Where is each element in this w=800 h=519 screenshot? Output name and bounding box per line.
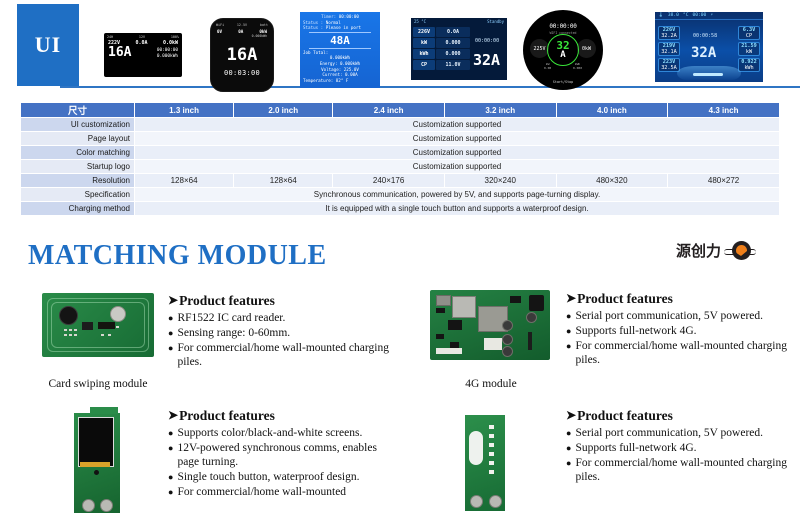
bullet-icon: ● xyxy=(168,311,173,325)
table-header-row: 尺寸 1.3 inch 2.0 inch 2.4 inch 3.2 inch 4… xyxy=(21,103,779,117)
screen13-status-right: 100% xyxy=(171,35,179,39)
row-value: Customization supported xyxy=(135,132,779,145)
row-value: 128×64 xyxy=(135,174,233,187)
feature-bullet: ● Serial port communication, 5V powered. xyxy=(566,309,790,323)
display-module-features: ➤ Product features ● Supports color/blac… xyxy=(168,408,392,500)
table-row: Charging method It is equipped with a si… xyxy=(21,202,779,215)
screen43-chip-bottom: 32.5A xyxy=(659,65,679,71)
led-indicator xyxy=(489,452,494,456)
screen20-subvalue: 0.000kWh xyxy=(211,34,273,38)
screen-preview-4-3-inch: 🌡 38.0 °C 00:00 ⚡ 226V 32.2A 219V 32.1A … xyxy=(655,12,763,82)
table-row: Page layout Customization supported xyxy=(21,132,779,145)
screen32-metric-row: kWh 0.000 xyxy=(413,49,473,59)
screen32-metric-value: 0.000 xyxy=(436,38,470,48)
row-value: 480×272 xyxy=(668,174,779,187)
electrolytic-capacitor xyxy=(502,320,513,331)
screen43-chip-bottom: 32.2A xyxy=(659,33,679,39)
screen43-chip: 21.59 kW xyxy=(738,42,760,56)
screw-hole xyxy=(82,499,95,512)
row-label: Specification xyxy=(21,188,134,201)
screen20-unit-voltage: 0V xyxy=(217,29,222,34)
smd-part xyxy=(450,342,459,348)
electrolytic-capacitor xyxy=(502,346,513,357)
touch-module-features: ➤ Product features ● Serial port communi… xyxy=(566,408,790,485)
feature-bullet: ● 12V-powered synchronous comms, enables… xyxy=(168,441,392,469)
led-indicator xyxy=(489,470,494,474)
led-indicator xyxy=(489,425,494,429)
ui-tab: UI xyxy=(17,4,79,86)
matching-module-title: MATCHING MODULE xyxy=(28,240,327,272)
bullet-icon: ● xyxy=(168,470,173,484)
screen24-state-value: Please in port xyxy=(326,25,361,30)
screen-preview-3-2-inch: 25 °C Standby 226V 0.0A kW 0.000 kWh 0.0… xyxy=(411,18,507,80)
screen40-amp-unit: A xyxy=(560,51,565,60)
screen13-status-mid: 12V xyxy=(139,35,145,39)
plug-icon: ⚡ xyxy=(710,13,713,18)
row-value: It is equipped with a single touch butto… xyxy=(135,202,779,215)
row-label: Startup logo xyxy=(21,160,134,173)
screen13-energy: 0.000kWh xyxy=(157,54,178,59)
electrolytic-capacitor xyxy=(502,334,513,345)
feature-text: For commercial/home wall-mounted xyxy=(177,485,346,499)
feature-text: Single touch button, waterproof design. xyxy=(177,470,359,484)
table-header-size: 尺寸 xyxy=(21,103,134,117)
screen40-right-small-value: 0.000 xyxy=(573,66,582,70)
screen-preview-1-3-inch: 24H 12V 100% 222V 0.0A 0.0kW 16A 00:00:0… xyxy=(104,33,182,77)
screen32-amp-value: 32A xyxy=(473,51,500,69)
card-swiping-module-features: ➤ Product features ● RF1522 IC card read… xyxy=(168,293,392,370)
touch-button xyxy=(94,470,99,475)
row-value: Customization supported xyxy=(135,160,779,173)
feature-text: Supports full-network 4G. xyxy=(575,324,696,338)
screen40-left-small: kW 0.00 xyxy=(544,62,551,70)
car-light xyxy=(693,73,723,76)
row-value: 128×64 xyxy=(234,174,332,187)
smd-part xyxy=(436,308,445,313)
screen20-units-row: 0V 0A 0kW xyxy=(211,27,273,34)
screen32-metric-label: kW xyxy=(413,38,435,48)
feature-text: For commercial/home wall-mounted chargin… xyxy=(575,339,790,367)
logo-mark-icon xyxy=(723,241,757,260)
smd-part xyxy=(69,334,72,336)
screen24-timer-value: 00:00:00 xyxy=(339,14,359,19)
rj45-connector xyxy=(452,296,476,318)
feature-bullet: ● Supports full-network 4G. xyxy=(566,324,790,338)
bullet-icon: ● xyxy=(168,485,173,499)
feature-text: 12V-powered synchronous comms, enables p… xyxy=(177,441,392,469)
smd-part xyxy=(116,326,119,328)
row-value: 320×240 xyxy=(445,174,556,187)
screen13-power: 0.0kW xyxy=(163,40,178,46)
feature-bullet: ● For commercial/home wall-mounted charg… xyxy=(566,456,790,484)
screen43-clock: 00:00 xyxy=(692,13,706,18)
screen-preview-4-0-inch: 00:00:00 WIFI connected 225V 0kW 32 A kW… xyxy=(523,10,603,90)
screen20-amp-value: 16A xyxy=(211,45,273,65)
features-heading: ➤ Product features xyxy=(566,291,790,307)
screen24-timer-label: Timer: xyxy=(321,14,336,19)
screen32-metric-value: 0.000 xyxy=(436,49,470,59)
row-label: Resolution xyxy=(21,174,134,187)
row-value: Customization supported xyxy=(135,118,779,131)
features-heading-label: Product features xyxy=(179,293,275,309)
ic-chip xyxy=(98,322,115,329)
screen43-chip: 0.922 kWh xyxy=(738,58,760,72)
screen40-right-bubble: 0kW xyxy=(577,39,596,58)
feature-bullet: ● For commercial/home wall-mounted charg… xyxy=(566,339,790,367)
feature-text: RF1522 IC card reader. xyxy=(177,311,285,325)
row-label: Color matching xyxy=(21,146,134,159)
ui-tab-label: UI xyxy=(35,32,61,58)
smd-part xyxy=(74,329,77,331)
screw-hole xyxy=(470,495,483,508)
bullet-icon: ● xyxy=(168,441,173,469)
usb-connector xyxy=(436,295,451,306)
screen32-metric-row: kW 0.000 xyxy=(413,38,473,48)
bullet-icon: ● xyxy=(566,441,571,455)
screen40-left-small-value: 0.00 xyxy=(544,66,551,70)
screen32-metric-label: 226V xyxy=(413,27,435,37)
feature-text: Serial port communication, 5V powered. xyxy=(575,426,763,440)
screen32-metric-value: 0.0A xyxy=(436,27,470,37)
bullet-icon: ● xyxy=(566,426,571,440)
screen20-time: 00:03:00 xyxy=(211,69,273,77)
bullet-icon: ● xyxy=(566,339,571,367)
capacitor-component xyxy=(110,306,126,322)
table-header-4-0: 4.0 inch xyxy=(557,103,668,117)
screen43-statusbar: 🌡 38.0 °C 00:00 ⚡ xyxy=(655,12,763,20)
screen43-time: 00:00:58 xyxy=(693,33,717,39)
company-logo: 源创力 xyxy=(676,240,757,261)
table-header-2-0: 2.0 inch xyxy=(234,103,332,117)
screen32-status: Standby xyxy=(487,19,504,24)
screen32-metric-row: CP 11.0V xyxy=(413,60,473,70)
screen40-right-small: kWh 0.000 xyxy=(573,62,582,70)
bullet-icon: ● xyxy=(566,309,571,323)
table-row: Specification Synchronous communication,… xyxy=(21,188,779,201)
screen24-temperature: Temperature: 82° F xyxy=(303,78,377,84)
screen24-state-label: Status : xyxy=(303,25,323,30)
feature-text: Supports full-network 4G. xyxy=(575,441,696,455)
feature-bullet: ● Supports full-network 4G. xyxy=(566,441,790,455)
smd-part xyxy=(64,329,67,331)
touch-module-image xyxy=(465,415,505,511)
screw-hole xyxy=(489,495,502,508)
power-jack xyxy=(529,295,544,311)
feature-bullet: ● Serial port communication, 5V powered. xyxy=(566,426,790,440)
touch-pad xyxy=(469,431,483,465)
screen43-temperature: 38.0 xyxy=(668,13,679,18)
feature-bullet: ● RF1522 IC card reader. xyxy=(168,311,392,325)
row-label: Page layout xyxy=(21,132,134,145)
screen-preview-2-4-inch: Timer: 00:00:00 Status : Normal Status :… xyxy=(300,12,380,88)
ic-chip xyxy=(448,320,462,330)
smd-part xyxy=(64,334,67,336)
display-module-image xyxy=(74,413,120,513)
pin-header xyxy=(528,332,532,350)
screen32-metric-value: 11.0V xyxy=(436,60,470,70)
feature-text: For commercial/home wall-mounted chargin… xyxy=(575,456,790,484)
row-label: Charging method xyxy=(21,202,134,215)
screen24-divider xyxy=(309,32,371,33)
thermometer-icon: 🌡 xyxy=(658,13,664,18)
screen13-amp-value: 16A xyxy=(108,46,131,59)
screen24-status-label: Status : xyxy=(303,20,323,25)
arrow-icon: ➤ xyxy=(566,291,576,306)
flex-cable xyxy=(80,462,110,467)
bullet-icon: ● xyxy=(566,456,571,484)
table-header-2-4: 2.4 inch xyxy=(333,103,444,117)
screen24-amp-value: 48A xyxy=(303,34,377,47)
screen24-divider-2 xyxy=(309,48,371,49)
smd-part xyxy=(436,334,444,339)
screen13-current: 0.0A xyxy=(135,40,147,46)
arrow-icon: ➤ xyxy=(168,293,178,308)
screen43-amp-value: 32A xyxy=(691,45,716,61)
four-g-module-image xyxy=(430,290,550,360)
electrolytic-capacitor xyxy=(526,312,537,323)
ui-banner: UI 24H 12V 100% 222V 0.0A 0.0kW 16A 00:0… xyxy=(0,4,800,88)
screen13-status-left: 24H xyxy=(107,35,113,39)
screen32-time: 00:00:00 xyxy=(475,38,499,44)
screen43-chip-bottom: CP xyxy=(739,33,759,39)
screen13-side-column: 00:00:00 0.000kWh xyxy=(157,48,178,59)
arrow-icon: ➤ xyxy=(168,408,178,423)
screen32-metric-label: kWh xyxy=(413,49,435,59)
table-row: Color matching Customization supported xyxy=(21,146,779,159)
row-value: 480×320 xyxy=(557,174,668,187)
screen13-main-row: 16A 00:00:00 0.000kWh xyxy=(104,46,182,59)
screen43-chip: 219V 32.1A xyxy=(658,42,680,56)
screen20-unit-current: 0A xyxy=(238,29,243,34)
screen24-state-line: Status : Please in port xyxy=(303,25,377,31)
pcb-top-tab xyxy=(90,407,118,414)
buzzer-component xyxy=(59,306,78,325)
screen24-status-value: Normal xyxy=(326,20,341,25)
feature-text: Supports color/black-and-white screens. xyxy=(177,426,362,440)
screen43-chip: 223V 32.5A xyxy=(658,58,680,72)
bullet-icon: ● xyxy=(566,324,571,338)
feature-bullet: ● For commercial/home wall-mounted charg… xyxy=(168,341,392,369)
screen43-temperature-unit: °C xyxy=(683,13,689,18)
features-heading-label: Product features xyxy=(577,291,673,307)
smd-part xyxy=(108,334,111,336)
card-swiping-module-image xyxy=(42,293,154,357)
feature-text: For commercial/home wall-mounted chargin… xyxy=(177,341,392,369)
screen40-time: 00:00:00 xyxy=(523,23,603,30)
arrow-icon: ➤ xyxy=(566,408,576,423)
lcd-screen xyxy=(78,417,114,467)
screen43-chip: 226V 32.2A xyxy=(658,26,680,40)
screen20-status-left: WiFi xyxy=(216,23,224,27)
led-indicator xyxy=(489,461,494,465)
table-row: Resolution 128×64 128×64 240×176 320×240… xyxy=(21,174,779,187)
row-value: Customization supported xyxy=(135,146,779,159)
feature-bullet: ● Sensing range: 0-60mm. xyxy=(168,326,392,340)
table-row: Startup logo Customization supported xyxy=(21,160,779,173)
battery-icon: batt xyxy=(260,23,268,27)
screen43-chip: 6.3V CP xyxy=(738,26,760,40)
features-heading-label: Product features xyxy=(179,408,275,424)
led-indicator xyxy=(489,434,494,438)
feature-text: Serial port communication, 5V powered. xyxy=(575,309,763,323)
screen-preview-2-0-inch: WiFi 12.5V batt 0V 0A 0kW 0.000kWh 16A 0… xyxy=(210,18,274,92)
screen43-chip-bottom: kWh xyxy=(739,65,759,71)
screen43-chip-bottom: 32.1A xyxy=(659,49,679,55)
four-g-module-features: ➤ Product features ● Serial port communi… xyxy=(566,291,790,368)
screen32-metric-grid: 226V 0.0A kW 0.000 kWh 0.000 CP 11.0V xyxy=(413,27,473,71)
table-header-4-3: 4.3 inch xyxy=(668,103,779,117)
screen20-statusbar: WiFi 12.5V batt xyxy=(211,19,273,27)
smd-part xyxy=(101,334,104,336)
specification-table: 尺寸 1.3 inch 2.0 inch 2.4 inch 3.2 inch 4… xyxy=(20,102,780,216)
screen32-statusbar: 25 °C Standby xyxy=(411,18,507,25)
screen32-metric-row: 226V 0.0A xyxy=(413,27,473,37)
four-g-module-caption: 4G module xyxy=(432,378,550,390)
feature-bullet: ● For commercial/home wall-mounted xyxy=(168,485,392,499)
usb-a-connector xyxy=(484,338,502,350)
table-row: UI customization Customization supported xyxy=(21,118,779,131)
screw-hole xyxy=(100,499,113,512)
features-heading: ➤ Product features xyxy=(566,408,790,424)
row-label: UI customization xyxy=(21,118,134,131)
bullet-icon: ● xyxy=(168,341,173,369)
smd-part xyxy=(69,329,72,331)
ic-chip xyxy=(82,322,93,330)
feature-text: Sensing range: 0-60mm. xyxy=(177,326,290,340)
card-swiping-module-caption: Card swiping module xyxy=(24,378,172,390)
smd-part xyxy=(510,296,521,303)
screen43-chip-bottom: kW xyxy=(739,49,759,55)
features-heading: ➤ Product features xyxy=(168,293,392,309)
table-header-1-3: 1.3 inch xyxy=(135,103,233,117)
features-heading: ➤ Product features xyxy=(168,408,392,424)
screen13-time: 00:00:00 xyxy=(157,48,178,53)
bullet-icon: ● xyxy=(168,326,173,340)
screen32-metric-label: CP xyxy=(413,60,435,70)
features-heading-label: Product features xyxy=(577,408,673,424)
screen20-status-mid: 12.5V xyxy=(237,23,247,27)
pin-header-white xyxy=(436,348,462,354)
row-value: 240×176 xyxy=(333,174,444,187)
bullet-icon: ● xyxy=(168,426,173,440)
smd-part xyxy=(74,334,77,336)
feature-bullet: ● Supports color/black-and-white screens… xyxy=(168,426,392,440)
screen40-bottom-label: Start/Stop xyxy=(523,80,603,84)
logo-text: 源创力 xyxy=(676,240,721,261)
screen32-temperature: 25 °C xyxy=(414,19,426,24)
table-header-3-2: 3.2 inch xyxy=(445,103,556,117)
led-indicator xyxy=(489,443,494,447)
feature-bullet: ● Single touch button, waterproof design… xyxy=(168,470,392,484)
row-value: Synchronous communication, powered by 5V… xyxy=(135,188,779,201)
